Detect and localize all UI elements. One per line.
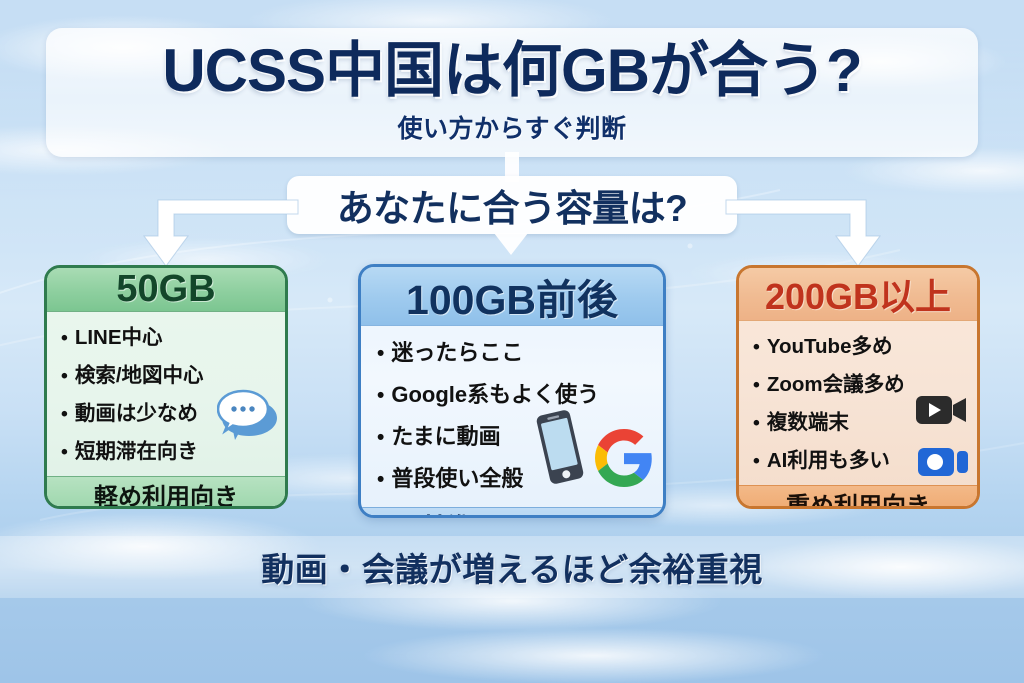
plan-card-50gb-body: • LINE中心 • 検索/地図中心 • 動画は少なめ • 短期滞在向き (47, 312, 285, 476)
bullet-marker-icon: • (377, 344, 384, 365)
question-banner-label: あなたに合う容量は? (337, 178, 688, 232)
plan-card-50gb-footer: 軽め利用向き (47, 476, 285, 509)
list-item-label: 動画は少なめ (75, 396, 198, 426)
chat-bubbles-icon (217, 388, 279, 440)
list-item-label: Zoom会議多め (767, 367, 905, 397)
list-item-label: 検索/地図中心 (75, 358, 204, 388)
infographic-canvas: UCSS中国は何GBが合う? 使い方からすぐ判断 あなたに合う容量は? 50GB… (0, 0, 1024, 683)
video-camera-blue-icon (917, 445, 971, 479)
list-item-label: 複数端末 (767, 405, 849, 435)
banner-pointer-icon (494, 233, 528, 255)
list-item-label: 普段使い全般 (391, 461, 523, 493)
plan-card-50gb-heading: 50GB (47, 268, 285, 312)
list-item-label: AI利用も多い (767, 443, 890, 473)
plan-card-100gb-body: • 迷ったらここ • Google系もよく使う • たまに動画 • 普段使い全般 (361, 326, 663, 507)
plan-card-200gb-body: • YouTube多め • Zoom会議多め • 複数端末 • AI利用も多い (739, 321, 977, 485)
smartphone-icon (533, 409, 587, 485)
bullet-marker-icon: • (753, 376, 760, 395)
plan-card-200gb-footer: 重め利用向き (739, 485, 977, 509)
list-item-label: LINE中心 (75, 320, 163, 350)
bullet-marker-icon: • (61, 405, 68, 424)
summary-caption-label: 動画・会議が増えるほど余裕重視 (261, 543, 763, 591)
list-item: • 検索/地図中心 (61, 358, 285, 388)
bullet-marker-icon: • (377, 386, 384, 407)
bullet-marker-icon: • (753, 414, 760, 433)
bullet-marker-icon: • (61, 329, 68, 348)
arrow-to-200gb-card-icon (724, 196, 884, 270)
plan-card-100gb-heading: 100GB前後 (361, 267, 663, 326)
list-item-label: Google系もよく使う (391, 377, 599, 409)
plan-card-100gb[interactable]: 100GB前後 • 迷ったらここ • Google系もよく使う • たまに動画 … (358, 264, 666, 518)
page-subtitle: 使い方からすぐ判断 (397, 109, 626, 145)
list-item-label: 迷ったらここ (391, 335, 523, 367)
list-item: • LINE中心 (61, 320, 285, 350)
list-item-label: YouTube多め (767, 329, 893, 359)
question-banner: あなたに合う容量は? (287, 176, 737, 234)
google-logo-icon (595, 429, 653, 487)
list-item: • YouTube多め (753, 329, 977, 359)
bullet-marker-icon: • (753, 338, 760, 357)
arrow-to-50gb-card-icon (140, 196, 300, 270)
plan-card-50gb[interactable]: 50GB • LINE中心 • 検索/地図中心 • 動画は少なめ • 短期滞在向… (44, 265, 288, 509)
bullet-marker-icon: • (377, 428, 384, 449)
list-item: • 迷ったらここ (377, 335, 663, 367)
summary-caption-bar: 動画・会議が増えるほど余裕重視 (0, 536, 1024, 598)
bullet-marker-icon: • (61, 367, 68, 386)
plan-card-100gb-footer: 基準にしやすい (361, 507, 663, 518)
bullet-marker-icon: • (753, 452, 760, 471)
page-title: UCSS中国は何GBが合う? (162, 36, 861, 107)
plan-card-200gb[interactable]: 200GB以上 • YouTube多め • Zoom会議多め • 複数端末 • … (736, 265, 980, 509)
list-item-label: たまに動画 (391, 419, 500, 451)
title-panel: UCSS中国は何GBが合う? 使い方からすぐ判断 (46, 28, 978, 157)
plan-card-200gb-heading: 200GB以上 (739, 268, 977, 321)
list-item-label: 短期滞在向き (75, 434, 198, 464)
video-camera-dark-icon (915, 393, 969, 427)
list-item: • Google系もよく使う (377, 377, 663, 409)
bullet-marker-icon: • (61, 443, 68, 462)
bullet-marker-icon: • (377, 470, 384, 491)
